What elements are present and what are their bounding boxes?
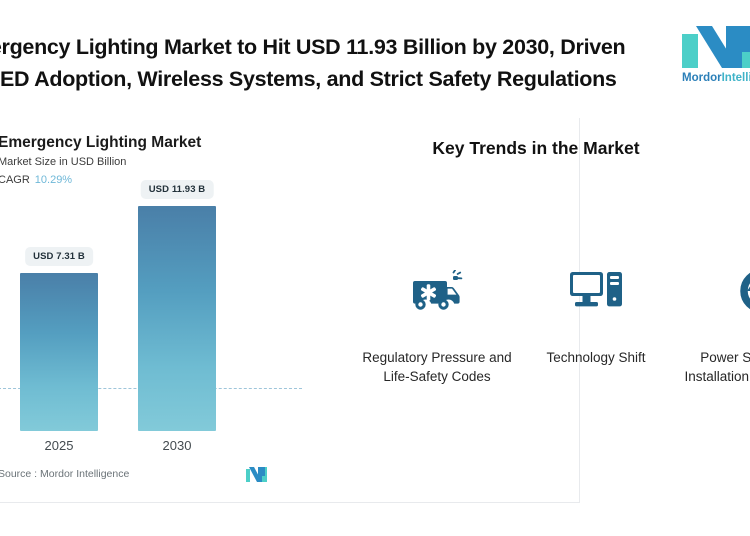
bar-2025[interactable]	[20, 273, 98, 431]
brand-name-primary: Mordor	[682, 72, 722, 84]
x-axis-label-2030: 2030	[163, 438, 192, 453]
chart-source-text: Source : Mordor Intelligence	[0, 468, 129, 480]
trend-item-technology: Technology Shift	[521, 266, 671, 367]
bar-chart-plot-area: USD 7.31 B 2025 USD 11.93 B 2030	[0, 198, 268, 453]
brand-name-secondary: Intelligence	[722, 72, 750, 84]
brand-name: MordorIntelligence	[682, 72, 750, 84]
ambulance-icon	[362, 266, 512, 316]
page-title: Emergency Lighting Market to Hit USD 11.…	[0, 31, 677, 95]
desktop-computer-icon	[521, 266, 671, 316]
bar-value-badge-2025: USD 7.31 B	[25, 247, 93, 266]
brand-logo: MordorIntelligence	[682, 22, 750, 94]
trend-item-regulatory: Regulatory Pressure and Life-Safety Code…	[362, 266, 512, 386]
x-axis-label-2025: 2025	[45, 438, 74, 453]
page-header: Emergency Lighting Market to Hit USD 11.…	[0, 0, 750, 110]
key-trends-panel: Key Trends in the Market	[380, 138, 750, 458]
trend-label-regulatory: Regulatory Pressure and Life-Safety Code…	[362, 348, 512, 386]
chart-cagr: CAGR10.29%	[0, 174, 72, 186]
chart-footer: Source : Mordor Intelligence	[0, 466, 558, 488]
trend-label-power-supply: Power Supply and Installation Preference…	[680, 348, 750, 386]
key-trends-heading: Key Trends in the Market	[380, 138, 692, 159]
trend-label-technology: Technology Shift	[521, 348, 671, 367]
chart-title: Emergency Lighting Market	[0, 134, 201, 152]
cagr-label: CAGR	[0, 174, 30, 186]
chart-subtitle: Market Size in USD Billion	[0, 156, 126, 168]
battery-power-icon	[680, 266, 750, 316]
page-title-line-2: by LED Adoption, Wireless Systems, and S…	[0, 63, 677, 95]
page-title-line-1: Emergency Lighting Market to Hit USD 11.…	[0, 31, 677, 63]
trend-item-power-supply: Power Supply and Installation Preference…	[680, 266, 750, 386]
bar-value-badge-2030: USD 11.93 B	[141, 180, 214, 199]
mordor-m-mark-icon	[246, 466, 268, 482]
bar-2030[interactable]	[138, 206, 216, 431]
cagr-value: 10.29%	[35, 174, 72, 186]
mordor-m-logo-icon	[682, 22, 750, 68]
